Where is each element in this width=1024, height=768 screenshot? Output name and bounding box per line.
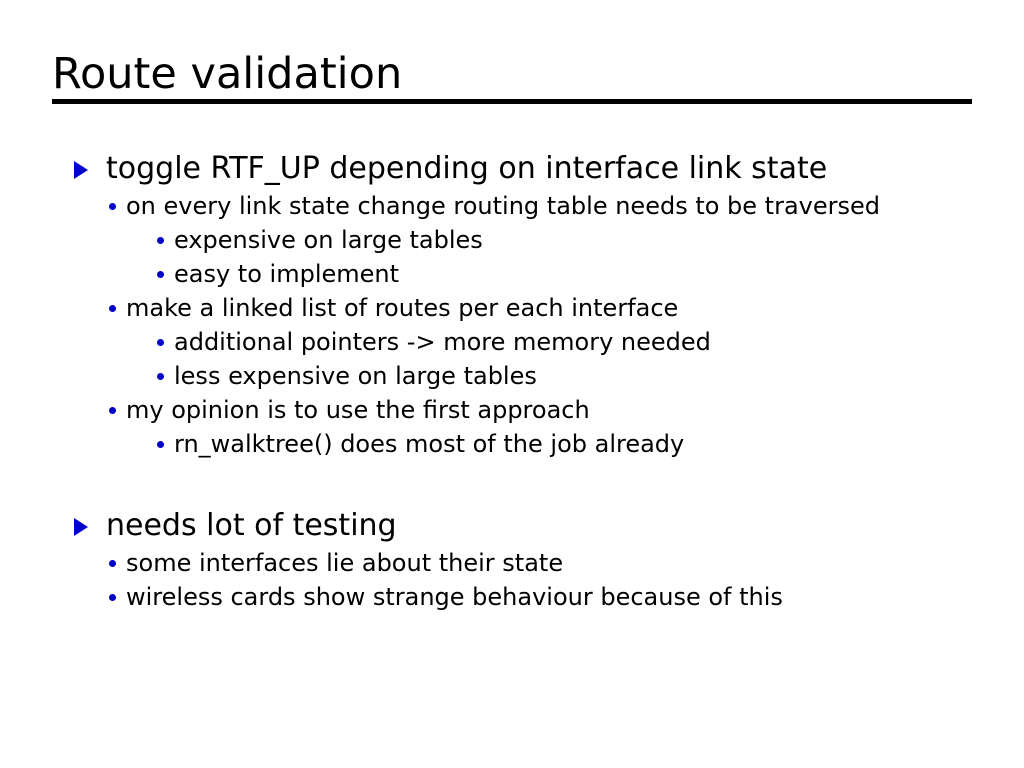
bullet-level3: easy to implement bbox=[0, 257, 1004, 291]
dot-bullet-icon bbox=[109, 407, 116, 414]
bullet-level3-label: rn_walktree() does most of the job alrea… bbox=[174, 430, 684, 458]
bullet-level2: on every link state change routing table… bbox=[0, 189, 956, 223]
bullet-level2: make a linked list of routes per each in… bbox=[0, 291, 956, 325]
bullet-level2-label: on every link state change routing table… bbox=[126, 192, 880, 220]
presentation-slide: Route validation toggle RTF_UP depending… bbox=[0, 0, 1024, 768]
dot-bullet-icon bbox=[157, 339, 164, 346]
dot-bullet-icon bbox=[157, 271, 164, 278]
bullet-level1-label: needs lot of testing bbox=[106, 508, 397, 543]
bullet-level3-label: less expensive on large tables bbox=[174, 362, 537, 390]
dot-bullet-icon bbox=[109, 305, 116, 312]
bullet-level3: rn_walktree() does most of the job alrea… bbox=[0, 427, 1004, 461]
triangle-right-icon bbox=[74, 518, 88, 536]
bullet-level3: expensive on large tables bbox=[0, 223, 1004, 257]
dot-bullet-icon bbox=[109, 203, 116, 210]
bullet-group: toggle RTF_UP depending on interface lin… bbox=[0, 148, 1024, 461]
slide-body: toggle RTF_UP depending on interface lin… bbox=[0, 148, 1024, 614]
bullet-level2: wireless cards show strange behaviour be… bbox=[0, 580, 956, 614]
bullet-level3-label: additional pointers -> more memory neede… bbox=[174, 328, 711, 356]
bullet-level1: toggle RTF_UP depending on interface lin… bbox=[0, 148, 1024, 189]
bullet-level2-label: some interfaces lie about their state bbox=[126, 549, 563, 577]
bullet-level2-label: my opinion is to use the first approach bbox=[126, 396, 590, 424]
bullet-level3-label: easy to implement bbox=[174, 260, 399, 288]
bullet-level1-label: toggle RTF_UP depending on interface lin… bbox=[106, 151, 827, 186]
bullet-level2-label: wireless cards show strange behaviour be… bbox=[126, 583, 783, 611]
dot-bullet-icon bbox=[157, 373, 164, 380]
bullet-group: needs lot of testing some interfaces lie… bbox=[0, 505, 1024, 614]
page-title: Route validation bbox=[52, 48, 972, 100]
bullet-level2-label: make a linked list of routes per each in… bbox=[126, 294, 678, 322]
title-block: Route validation bbox=[52, 48, 972, 100]
bullet-level3: less expensive on large tables bbox=[0, 359, 1004, 393]
dot-bullet-icon bbox=[157, 441, 164, 448]
bullet-level2: my opinion is to use the first approach bbox=[0, 393, 956, 427]
bullet-level1: needs lot of testing bbox=[0, 505, 1024, 546]
dot-bullet-icon bbox=[109, 560, 116, 567]
dot-bullet-icon bbox=[109, 594, 116, 601]
bullet-level3-label: expensive on large tables bbox=[174, 226, 483, 254]
title-divider bbox=[52, 99, 972, 104]
triangle-right-icon bbox=[74, 161, 88, 179]
bullet-level3: additional pointers -> more memory neede… bbox=[0, 325, 1004, 359]
dot-bullet-icon bbox=[157, 237, 164, 244]
bullet-level2: some interfaces lie about their state bbox=[0, 546, 956, 580]
